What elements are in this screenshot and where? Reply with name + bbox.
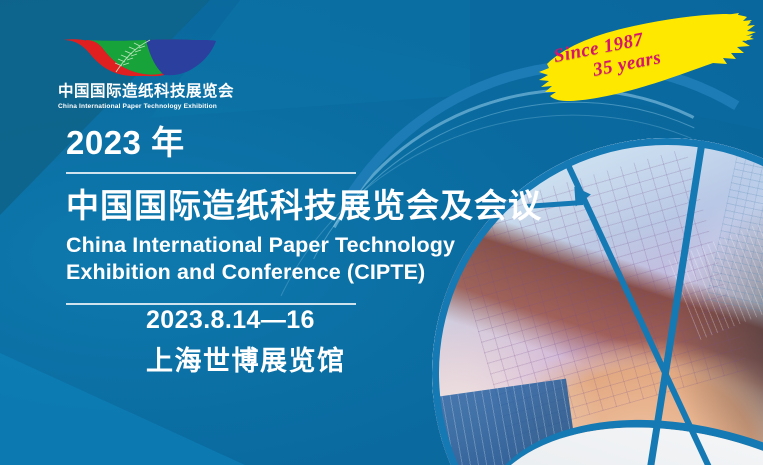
arrow-pointer-head: [574, 185, 591, 206]
event-title-chinese: 中国国际造纸科技展览会及会议: [66, 188, 566, 225]
divider-top: [66, 172, 356, 174]
event-title-english-line-1: China International Paper Technology: [66, 232, 566, 259]
logo-english-name: China International Paper Technology Exh…: [58, 103, 223, 110]
event-venue: 上海世博展览馆: [146, 347, 346, 377]
event-details: 2023.8.14—16 上海世博展览馆: [146, 307, 346, 376]
event-title-english-line-2: Exhibition and Conference (CIPTE): [66, 259, 566, 286]
event-date: 2023.8.14—16: [146, 307, 346, 335]
event-year: 2023 年: [66, 126, 566, 159]
event-title-english: China International Paper Technology Exh…: [66, 232, 566, 285]
divider-bottom: [66, 303, 356, 305]
headline-block: 2023 年 中国国际造纸科技展览会及会议 China Internationa…: [66, 126, 566, 305]
logo: 中国国际造纸科技展览会 China International Paper Te…: [58, 30, 223, 110]
cipte-ribbon-logo-icon: [58, 30, 218, 78]
logo-chinese-name: 中国国际造纸科技展览会: [58, 79, 223, 101]
anniversary-badge: Since 1987 35 years: [533, 2, 761, 107]
event-poster: 中国国际造纸科技展览会 China International Paper Te…: [0, 0, 763, 465]
